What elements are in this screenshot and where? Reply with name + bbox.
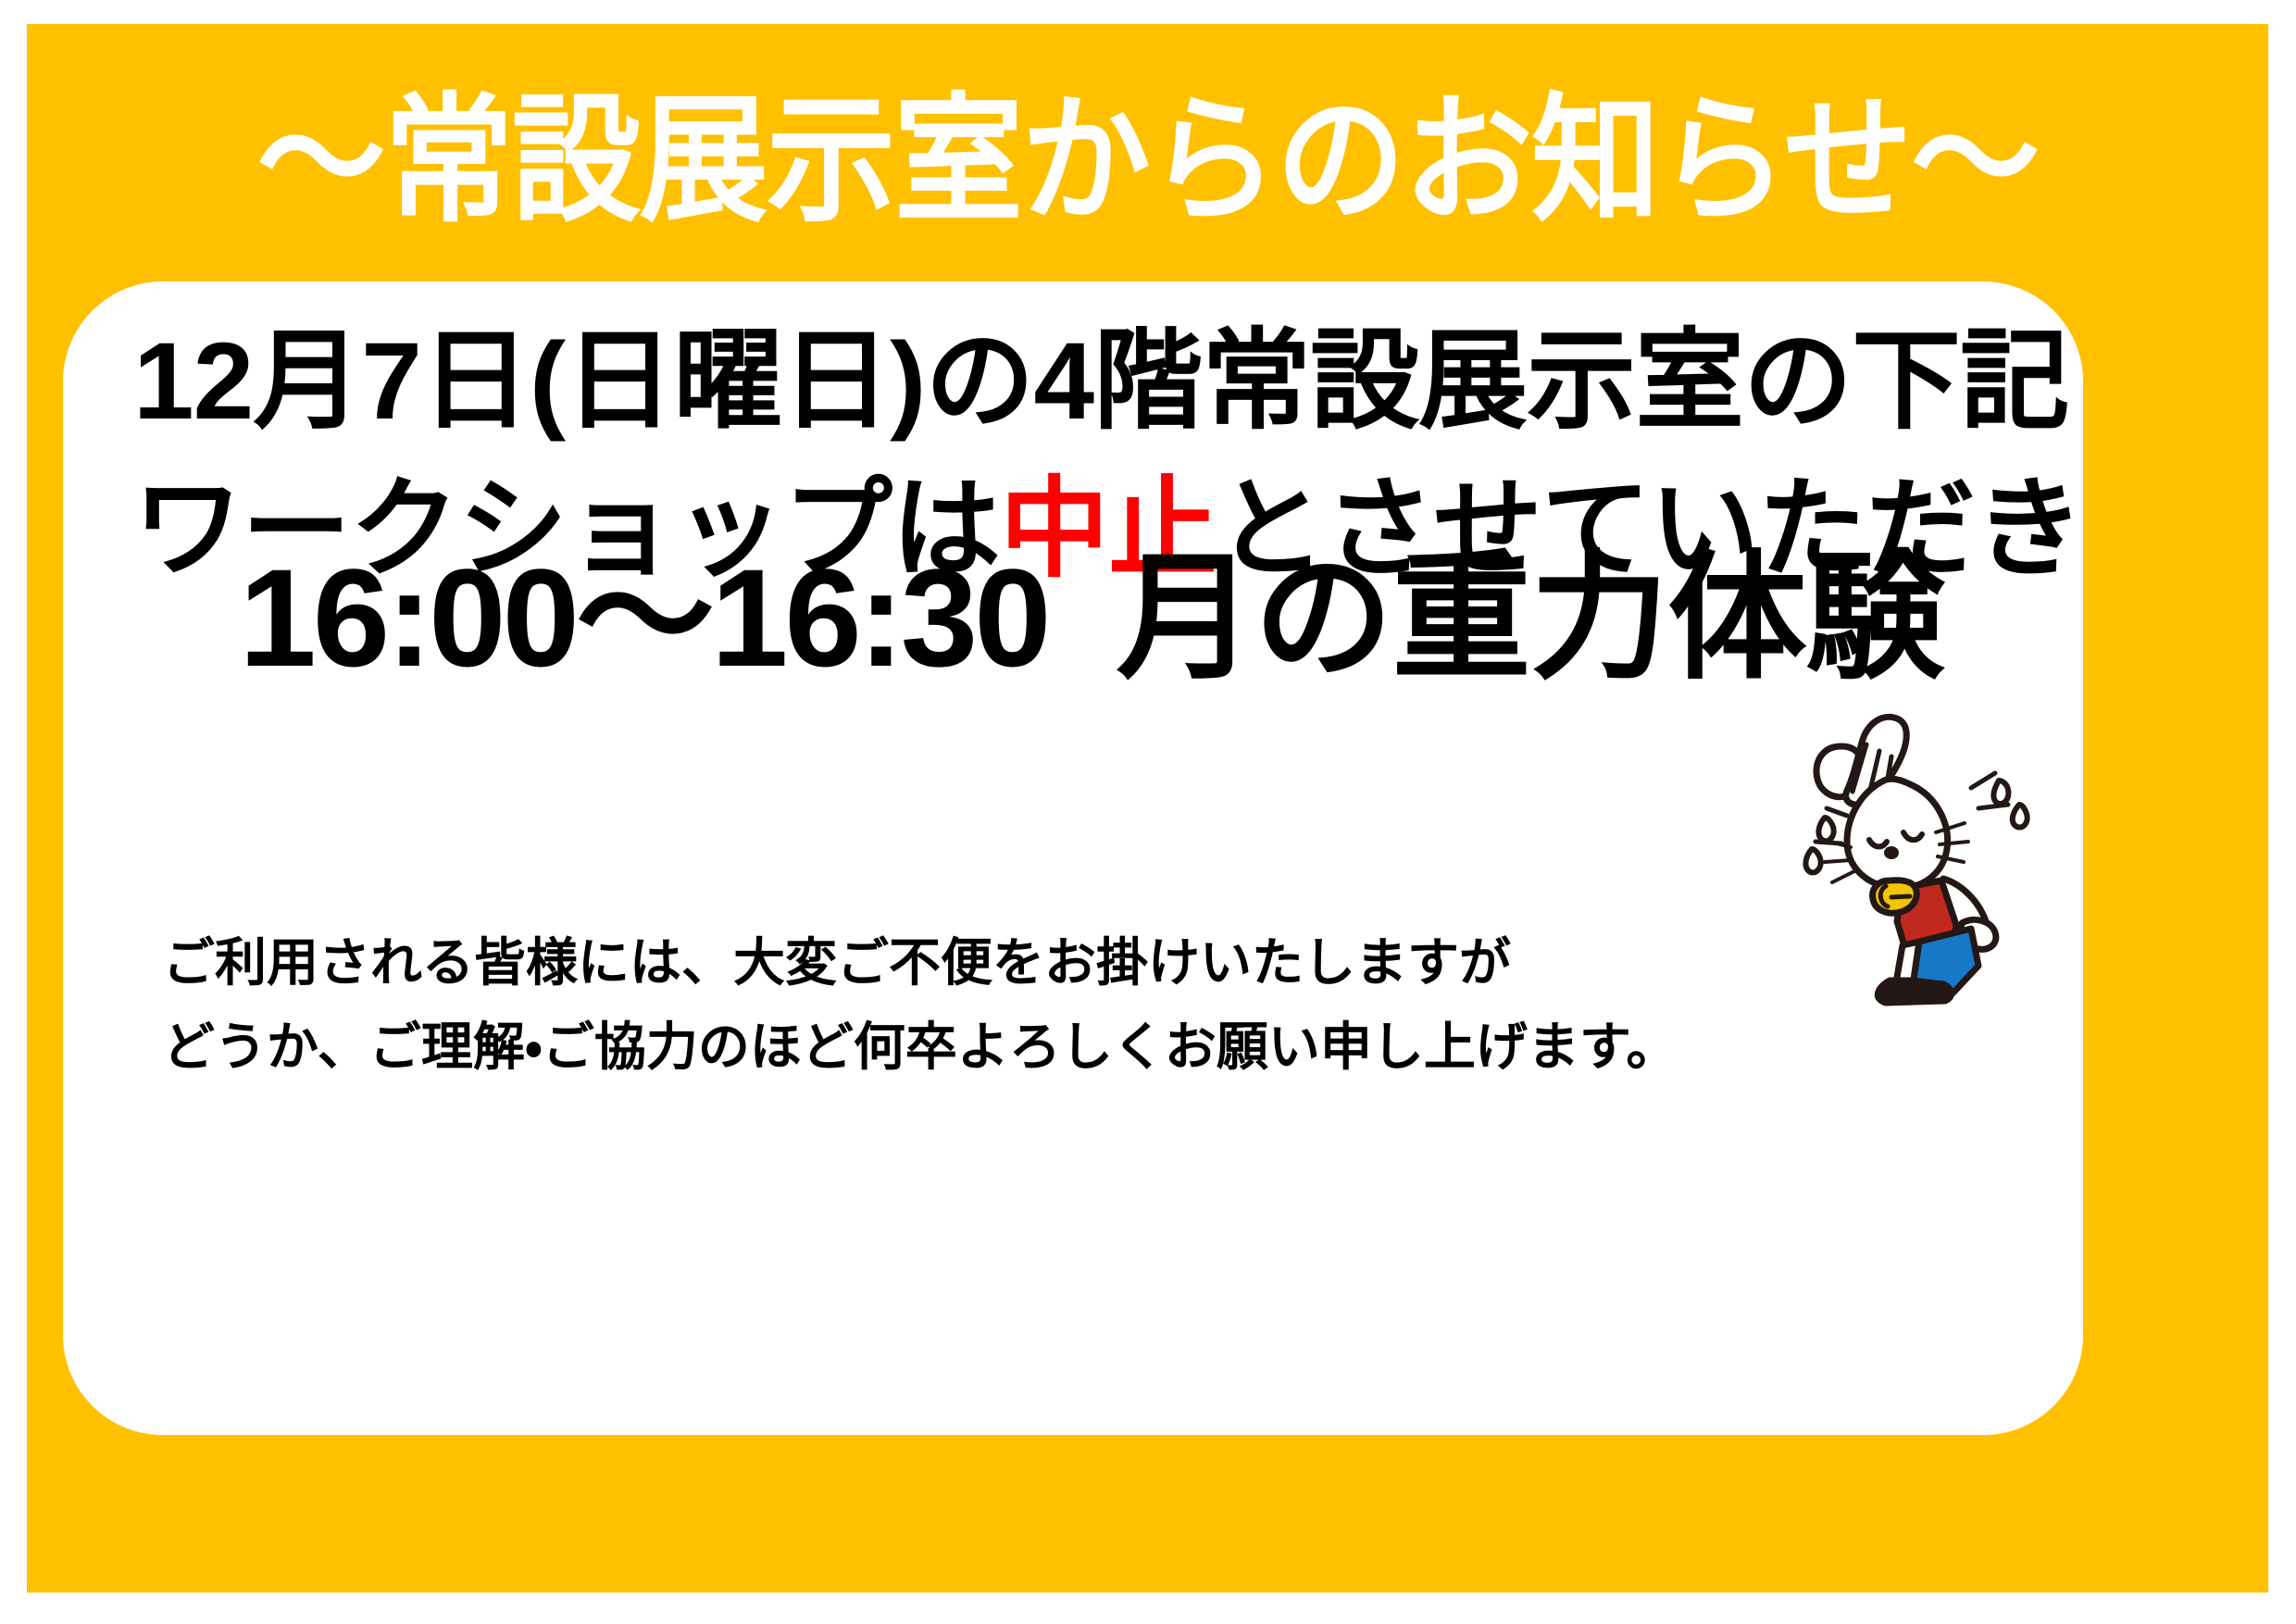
- rabbit-sweat-line-r2: [1978, 805, 2008, 808]
- event-time-range: 16:00～16:30: [239, 540, 1047, 695]
- rabbit-sweat-line-l2: [1816, 842, 1841, 843]
- rabbit-sweat-drop-r2: [2013, 805, 2028, 828]
- event-name: 月の重力体験: [1117, 540, 1944, 695]
- rabbit-whisker-l3: [1832, 871, 1854, 882]
- notice-card: 12月7日(日曜日)の4階常設展示室の下記 ワークショップは中止とさせていただき…: [63, 281, 2083, 1435]
- rabbit-sweat-drop-l1: [1818, 818, 1833, 841]
- notice-line-1: 12月7日(日曜日)の4階常設展示室の下記: [133, 307, 2050, 456]
- poster-panel: ～常設展示室からのお知らせ～ 12月7日(日曜日)の4階常設展示室の下記 ワーク…: [27, 24, 2268, 1593]
- rabbit-sweat-line-l1: [1827, 808, 1847, 816]
- rabbit-sweat-drop-r1: [1993, 781, 2008, 804]
- bowing-rabbit-svg: [1780, 703, 2058, 1008]
- rabbit-whisker-l2: [1825, 860, 1851, 862]
- poster-title-band: ～常設展示室からのお知らせ～: [27, 72, 2268, 248]
- rabbit-bell-line-2: [1891, 896, 1910, 897]
- rabbit-sweat-drop-l2: [1805, 849, 1820, 872]
- rabbit-sweat-line-r1: [1971, 773, 1995, 788]
- apology-line-2: どうか、ご理解・ご協力のほど何卒よろしくお願い申し上げます。: [163, 1005, 1607, 1089]
- bowing-rabbit-icon: [1780, 703, 2058, 1008]
- page-title: ～常設展示室からのお知らせ～: [256, 91, 2038, 230]
- apology-text: ご利用される皆様には、大変ご不便をお掛けいたしますが どうか、ご理解・ご協力のほ…: [163, 920, 1607, 1090]
- rabbit-head: [1847, 779, 1948, 888]
- apology-line-1: ご利用される皆様には、大変ご不便をお掛けいたしますが: [163, 920, 1607, 1005]
- rabbit-shoe: [1878, 981, 1951, 1003]
- event-line: 16:00～16:30月の重力体験: [133, 543, 2050, 693]
- rabbit-nose: [1884, 846, 1899, 859]
